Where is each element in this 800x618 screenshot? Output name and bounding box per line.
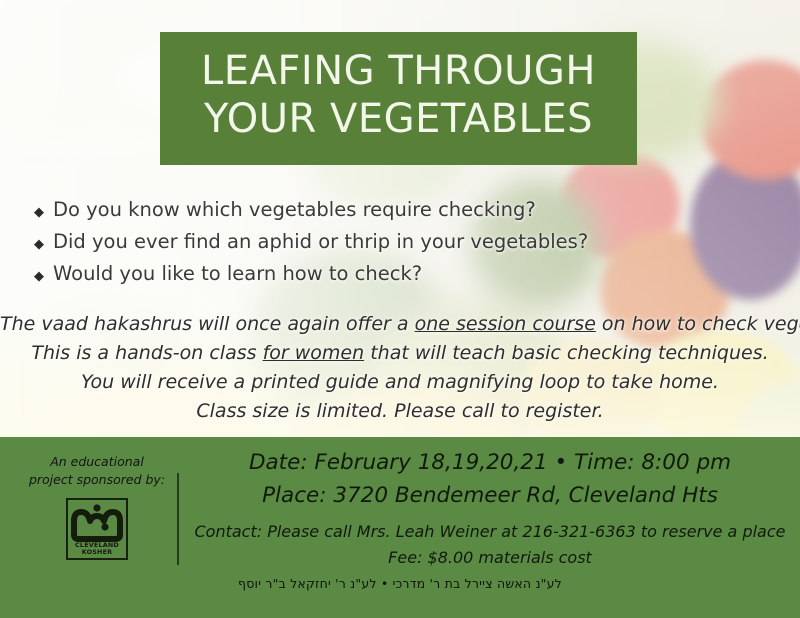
- title-band: LEAFING THROUGH YOUR VEGETABLES: [160, 32, 637, 165]
- date-time-line: Date: February 18,19,20,21 • Time: 8:00 …: [190, 447, 790, 480]
- place-line: Place: 3720 Bendemeer Rd, Cleveland Hts: [190, 480, 790, 513]
- logo-wordmark: CLEVELAND KOSHER: [68, 542, 126, 556]
- sponsor-line-2: project sponsored by:: [22, 471, 172, 489]
- sponsor-block: An educational project sponsored by: CLE…: [22, 453, 172, 560]
- description-line-4: Class size is limited. Please call to re…: [0, 397, 800, 426]
- description-block: The vaad hakashrus will once again offer…: [0, 310, 800, 426]
- diamond-bullet-icon: ◆: [34, 270, 44, 283]
- contact-line: Contact: Please call Mrs. Leah Weiner at…: [190, 519, 790, 545]
- description-line-2: This is a hands-on class for women that …: [0, 339, 800, 368]
- event-details: Date: February 18,19,20,21 • Time: 8:00 …: [190, 447, 790, 571]
- logo-wordmark-line-2: KOSHER: [68, 549, 126, 556]
- question-list: ◆ Do you know which vegetables require c…: [34, 198, 734, 294]
- list-item: ◆ Would you like to learn how to check?: [34, 262, 734, 285]
- list-item: ◆ Do you know which vegetables require c…: [34, 198, 734, 221]
- list-item: ◆ Did you ever find an aphid or thrip in…: [34, 230, 734, 253]
- hebrew-dedication-line: לע"נ האשה ציירל בת ר' מדרכי • לע"נ ר' יח…: [0, 576, 800, 591]
- description-line-1-underlined: one session course: [415, 313, 596, 335]
- description-line-2-part-b: that will teach basic checking technique…: [364, 342, 768, 364]
- description-line-1-part-a: The vaad hakashrus will once again offer…: [0, 313, 415, 335]
- description-line-2-part-a: This is a hands-on class: [31, 342, 262, 364]
- description-line-1-part-b: on how to check vegetables.: [596, 313, 800, 335]
- sponsor-line-1: An educational: [22, 453, 172, 471]
- spacer: [190, 512, 790, 519]
- list-item-text: Would you like to learn how to check?: [53, 262, 422, 285]
- footer-band: An educational project sponsored by: CLE…: [0, 437, 800, 618]
- title-line-2: YOUR VEGETABLES: [204, 96, 593, 143]
- vertical-divider: [177, 473, 179, 565]
- description-line-3: You will receive a printed guide and mag…: [0, 368, 800, 397]
- list-item-text: Do you know which vegetables require che…: [53, 198, 536, 221]
- diamond-bullet-icon: ◆: [34, 206, 44, 219]
- diamond-bullet-icon: ◆: [34, 238, 44, 251]
- fee-line: Fee: $8.00 materials cost: [190, 545, 790, 571]
- description-line-2-underlined: for women: [263, 342, 365, 364]
- list-item-text: Did you ever find an aphid or thrip in y…: [53, 230, 588, 253]
- description-line-1: The vaad hakashrus will once again offer…: [0, 310, 800, 339]
- flyer: LEAFING THROUGH YOUR VEGETABLES ◆ Do you…: [0, 0, 800, 618]
- cleveland-kosher-logo: CLEVELAND KOSHER: [66, 498, 128, 560]
- title-line-1: LEAFING THROUGH: [201, 48, 596, 95]
